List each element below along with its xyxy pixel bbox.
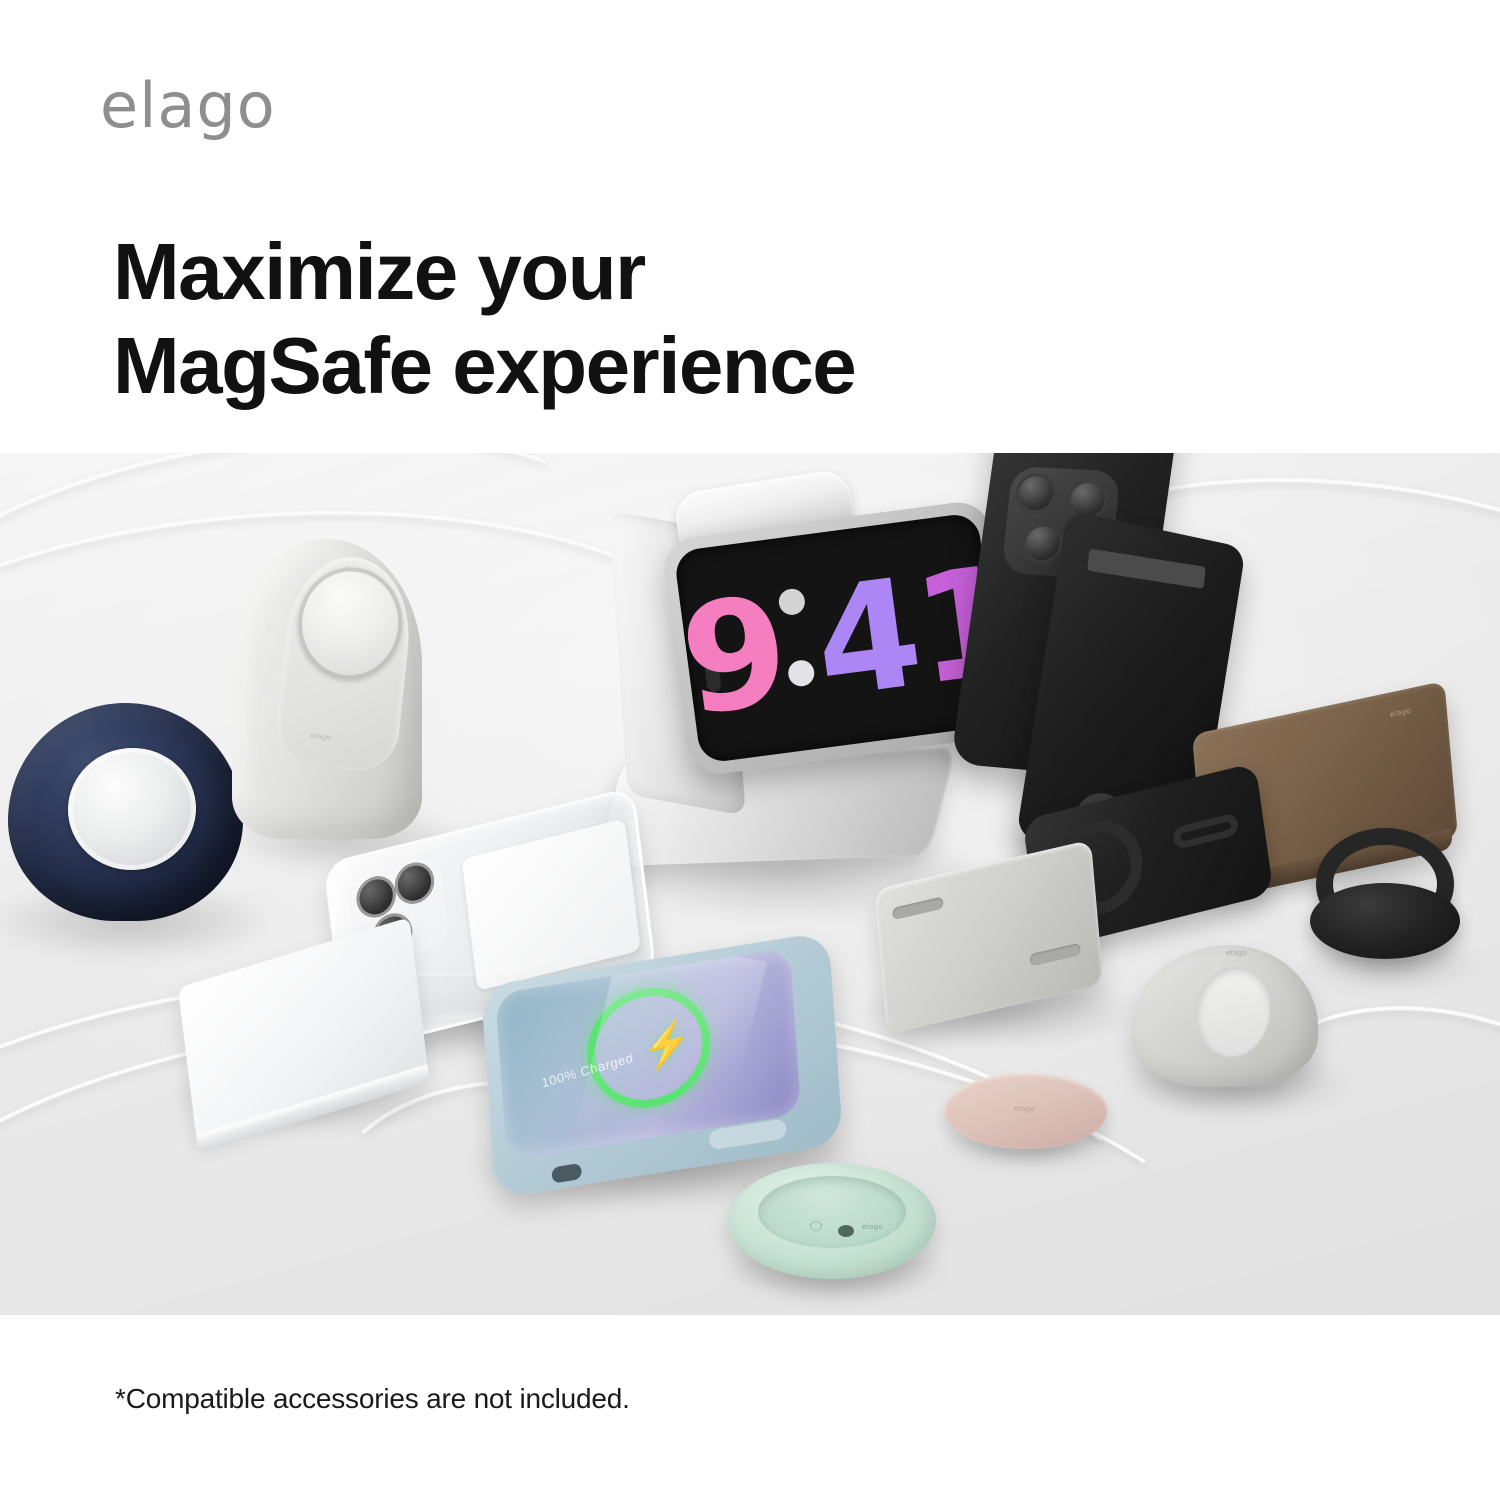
alignment-mark-icon — [810, 1221, 822, 1231]
cable-notch-icon — [838, 1225, 854, 1237]
footer-section: *Compatible accessories are not included… — [0, 1315, 1500, 1500]
disclaimer-text: *Compatible accessories are not included… — [115, 1383, 630, 1415]
watch-cradle-opening — [1189, 962, 1276, 1062]
standby-clock: 9 4 1 — [703, 531, 993, 752]
product-mint-charger-holder: elago — [728, 1163, 936, 1279]
header-section: elago Maximize your MagSafe experience — [0, 0, 1500, 453]
card-slot — [1029, 943, 1081, 967]
grip-loop-icon — [1172, 812, 1239, 850]
brand-logo: elago — [100, 75, 276, 137]
product-black-ring-stand-base — [1310, 883, 1460, 959]
product-navy-dome-charger-holder — [8, 703, 243, 921]
card-slot — [892, 896, 944, 920]
product-gray-cone-charger-stand: elago — [232, 539, 422, 839]
product-logo-text: elago — [862, 1223, 883, 1231]
product-photo-scene: elago 9 4 1 elago — [0, 453, 1500, 1315]
lightning-bolt-icon: ⚡ — [638, 1018, 695, 1071]
magsafe-puck-icon — [293, 562, 408, 684]
product-logo-text: elago — [1390, 706, 1412, 718]
cone-face: elago — [273, 551, 416, 775]
product-logo-text: elago — [1226, 949, 1247, 957]
product-logo-text: elago — [310, 732, 332, 742]
product-logo-text: elago — [1014, 1105, 1035, 1113]
product-pink-disc-charging-pad: elago — [944, 1073, 1108, 1149]
charger-well — [758, 1176, 906, 1248]
page-title: Maximize your MagSafe experience — [113, 225, 855, 413]
clock-digit-minute-tens: 4 — [807, 559, 924, 721]
magsafe-puck-icon — [62, 742, 202, 877]
card-slot — [1087, 549, 1206, 589]
